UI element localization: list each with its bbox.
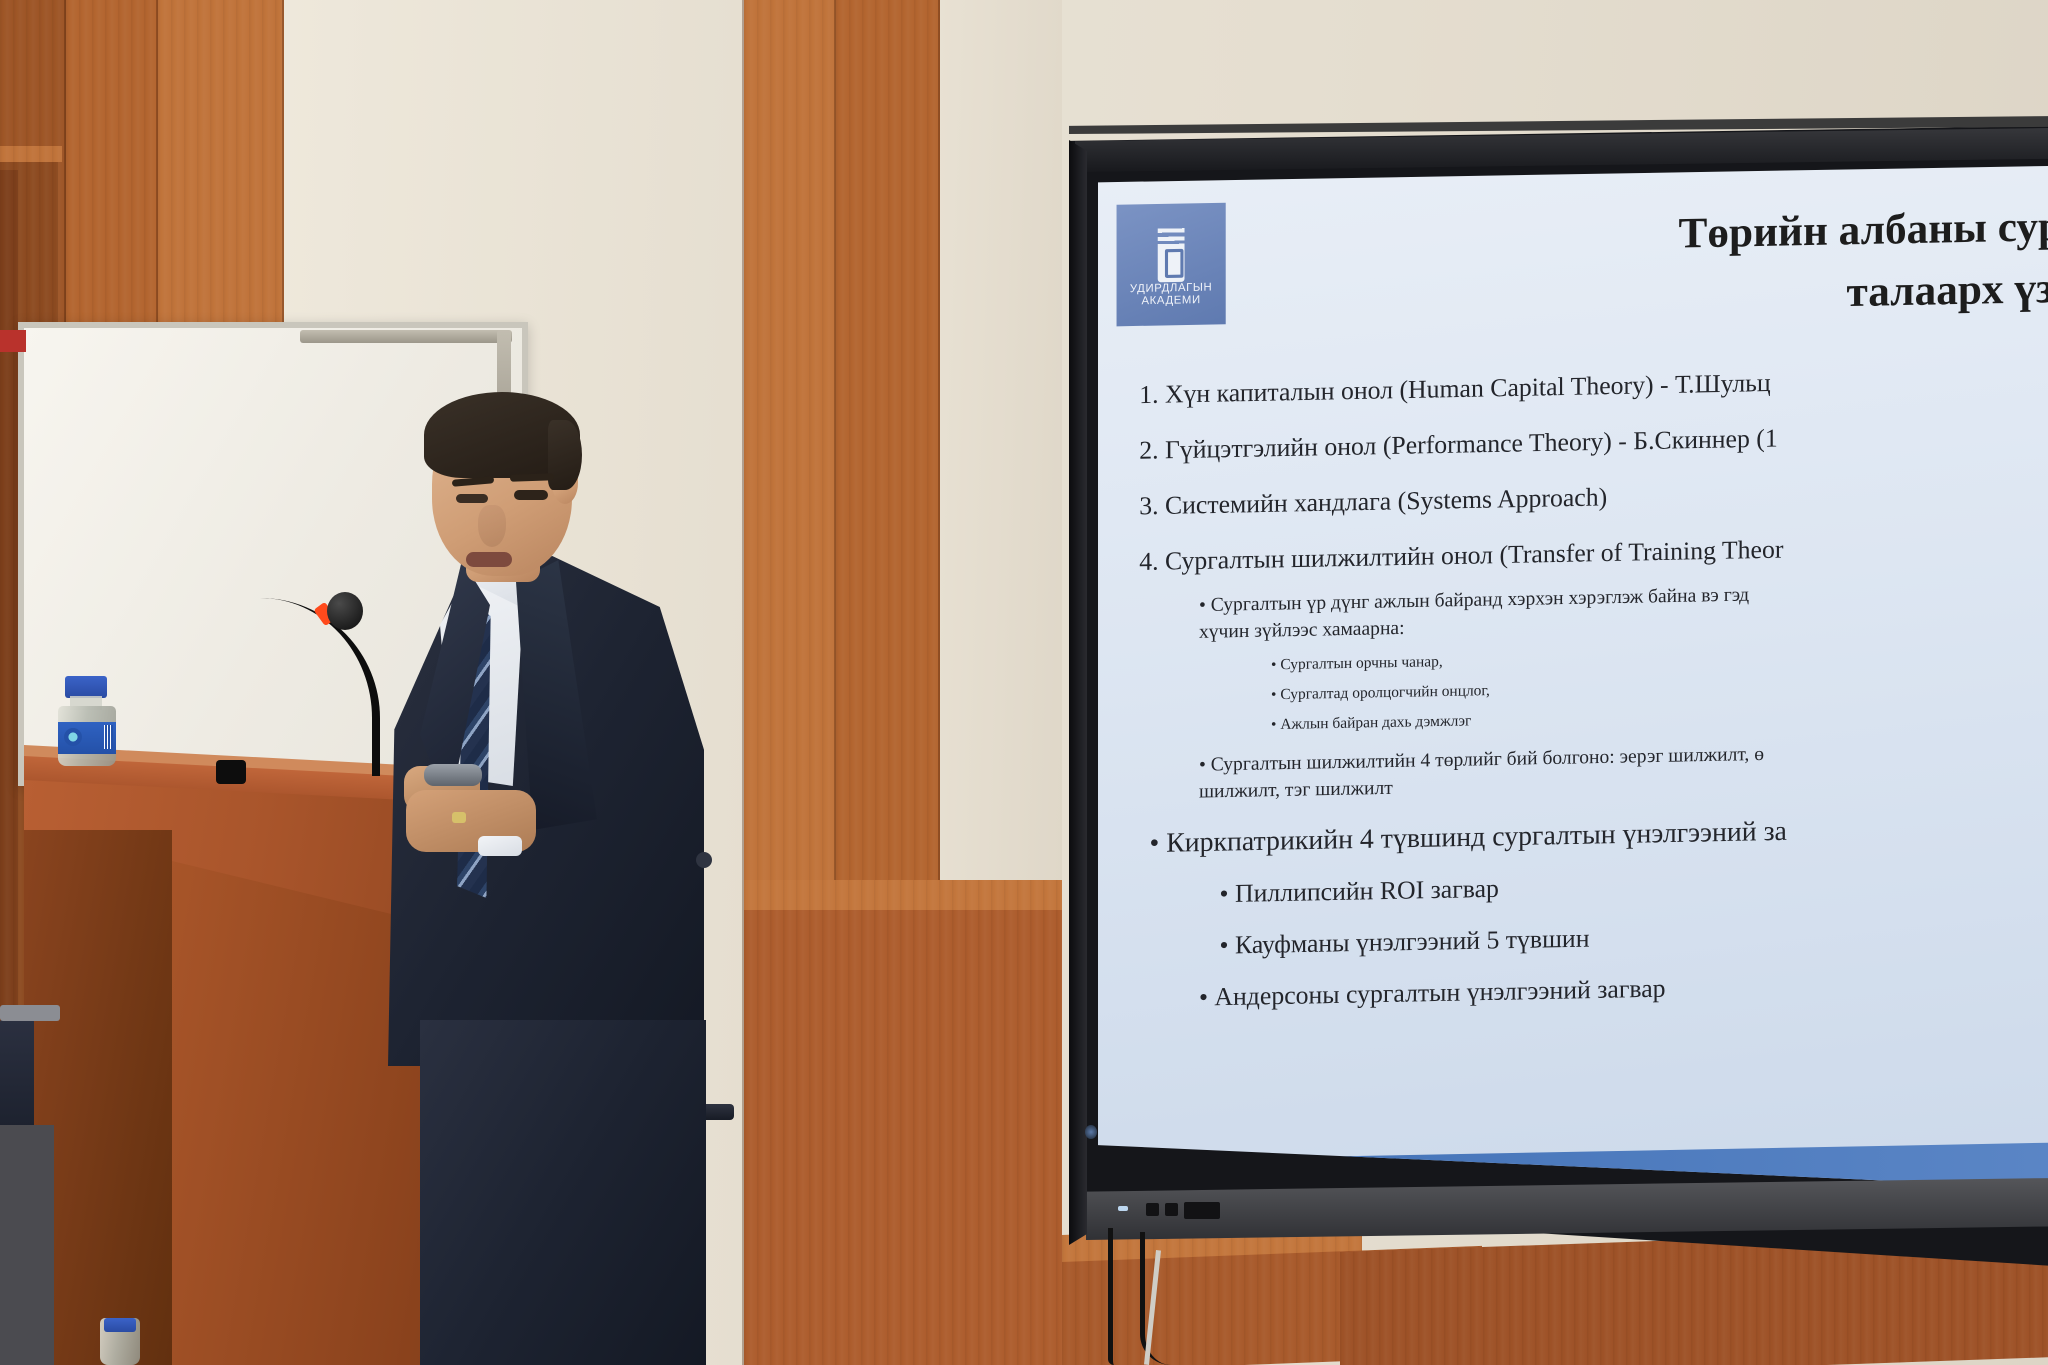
slide-line: Киркпатрикийн 4 түвшинд сургалтын үнэлгэ… xyxy=(1150,808,2048,860)
academy-logo: УДИРДЛАГЫН АКАДЕМИ xyxy=(1117,203,1226,327)
slide-line: Сургалтын орчны чанар, xyxy=(1271,640,2048,675)
slide-line: Ажлын байран дахь дэмжлэг xyxy=(1271,699,2048,734)
slide-line: Кауфманы үнэлгээний 5 түвшин xyxy=(1220,914,2048,961)
doorway-header xyxy=(0,146,62,162)
presentation-slide: УДИРДЛАГЫН АКАДЕМИ Төрийн албаны сургал … xyxy=(1098,166,2048,1188)
slide-line: Сургалтад оролцогчийн онцлог, xyxy=(1271,670,2048,705)
microphone-head[interactable] xyxy=(327,592,363,630)
presenter-eye-left xyxy=(456,494,488,503)
presenter-mouth xyxy=(466,552,512,567)
presenter-cuff xyxy=(478,836,522,856)
academy-logo-line2: АКАДЕМИ xyxy=(1142,294,1201,307)
slide-line: 1. Хүн капиталын онол (Human Capital The… xyxy=(1139,362,2048,411)
slide-body: 1. Хүн капиталын онол (Human Capital The… xyxy=(1139,362,2048,1014)
slide-line: 2. Гүйцэтгэлийн онол (Performance Theory… xyxy=(1139,417,2048,466)
chair-rail xyxy=(744,880,1062,910)
display-port xyxy=(1165,1203,1178,1216)
presentation-room-photo: УДИРДЛАГЫН АКАДЕМИ Төрийн албаны сургал … xyxy=(0,0,2048,1365)
water-bottle-cap xyxy=(65,676,107,698)
whiteboard-pipe-horizontal xyxy=(300,330,512,343)
water-bottle-secondary-cap xyxy=(104,1318,136,1332)
whiteboard-marker-clip xyxy=(0,330,26,352)
display-screen[interactable]: УДИРДЛАГЫН АКАДЕМИ Төрийн албаны сургал … xyxy=(1098,166,2048,1188)
presenter-clicker[interactable] xyxy=(424,764,482,786)
water-bottle-barcode xyxy=(104,725,113,749)
chair-seat xyxy=(0,1125,54,1365)
slide-line: Пиллипсийн ROI загвар xyxy=(1220,862,2048,909)
presenter-hair-side xyxy=(548,420,582,490)
chair-rail-metal xyxy=(0,1005,60,1021)
academy-logo-mark xyxy=(1158,222,1185,282)
presenter-nose xyxy=(478,505,506,547)
slide-title: Төрийн албаны сургал талаарх үзэл б xyxy=(1242,196,2048,336)
display-logo-badge xyxy=(1085,1125,1097,1139)
slide-line: 4. Сургалтын шилжилтийн онол (Transfer o… xyxy=(1139,528,2048,577)
presenter-eye-right xyxy=(514,490,548,500)
display-power-led xyxy=(1118,1206,1128,1211)
display-left-edge xyxy=(1069,140,1087,1245)
water-bottle-logo xyxy=(64,728,82,746)
presenter-lower-body xyxy=(420,1020,706,1365)
presenter-jacket-button xyxy=(696,852,712,868)
power-cable xyxy=(1108,1228,1114,1365)
slide-line: Андерсоны сургалтын үнэлгээний загвар xyxy=(1199,965,2048,1013)
display-connector xyxy=(1184,1202,1220,1219)
slide-line: 3. Системийн хандлага (Systems Approach) xyxy=(1139,473,2048,522)
display-port xyxy=(1146,1203,1159,1216)
presenter-ring xyxy=(452,812,466,823)
wainscot-panel xyxy=(744,910,1062,1365)
